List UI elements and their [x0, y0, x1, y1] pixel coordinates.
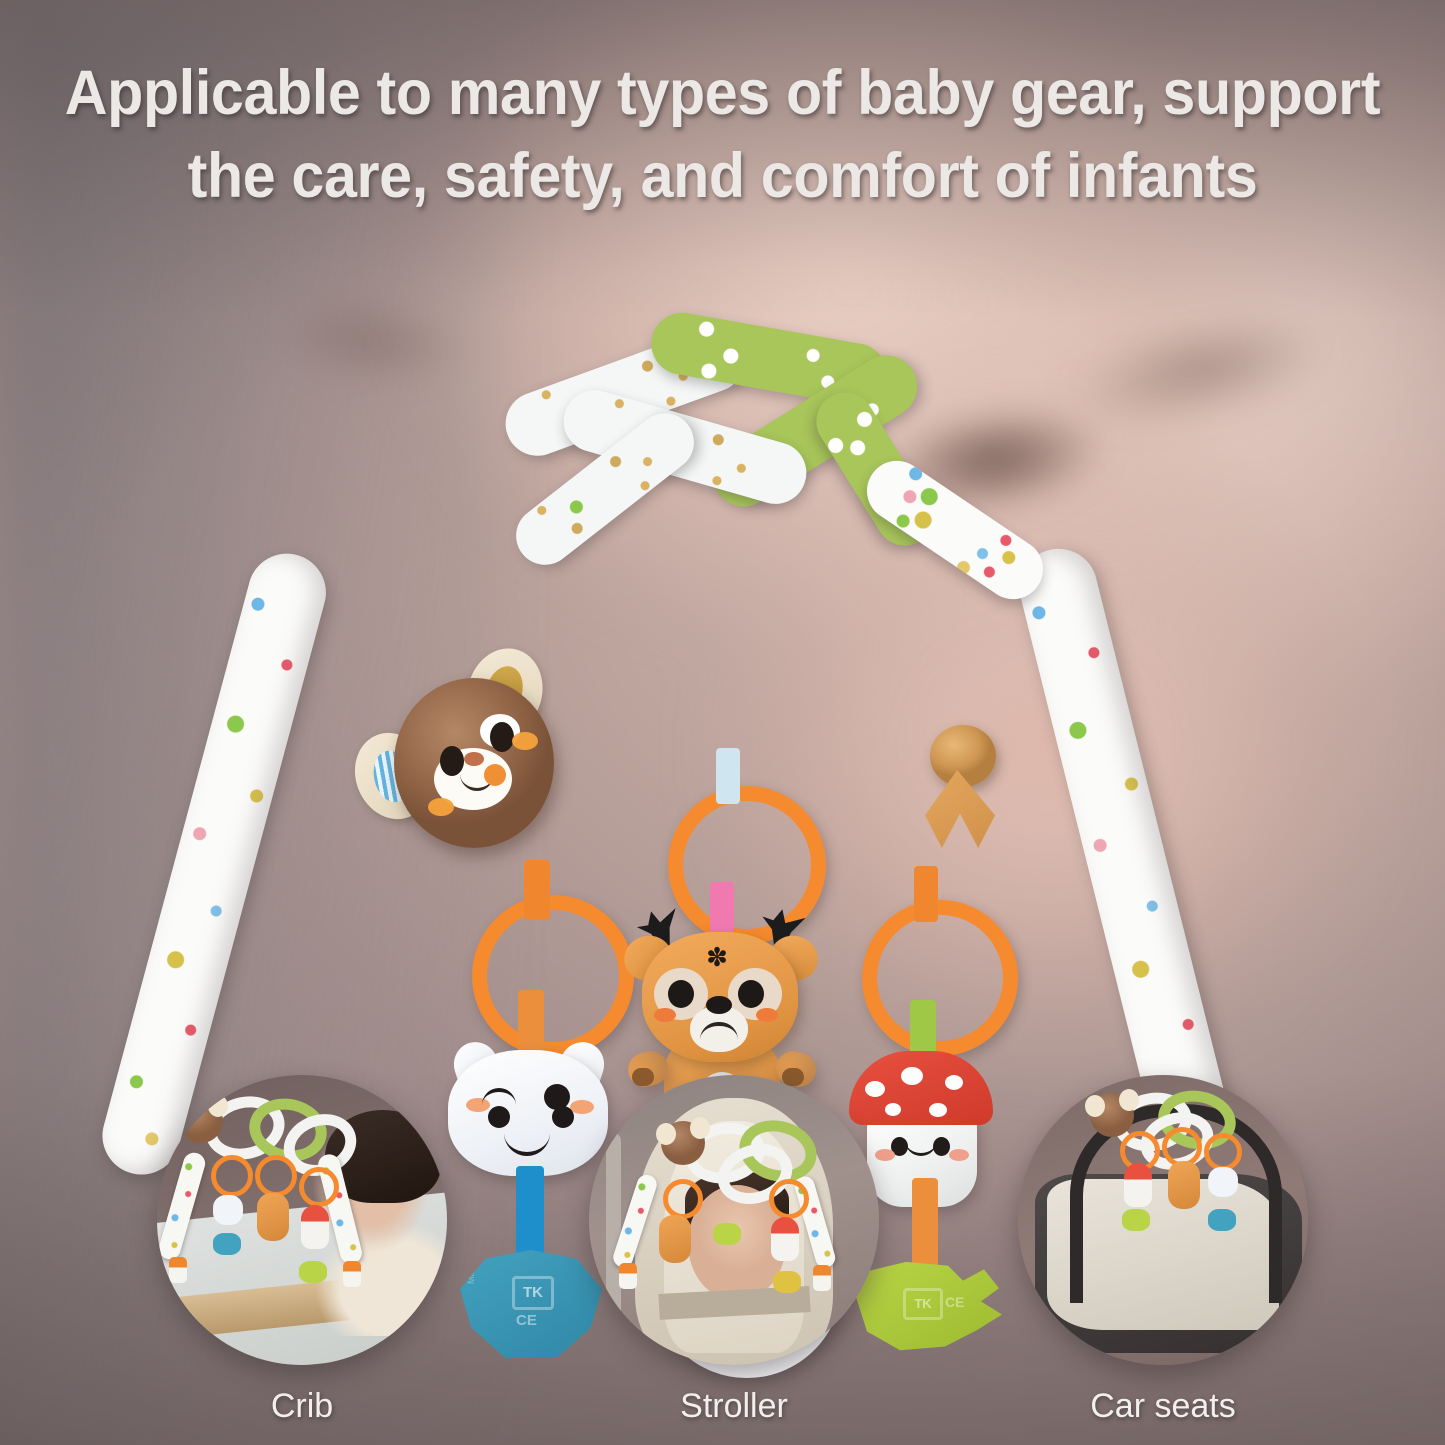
deer-blush-right — [756, 1008, 778, 1022]
mini-yellow-teether — [773, 1271, 801, 1293]
use-case-photo-car-seat — [1018, 1075, 1308, 1365]
bear-tongue — [484, 764, 506, 786]
mini-blue-teether — [1208, 1209, 1236, 1231]
mini-bear-head — [1090, 1093, 1134, 1137]
bear-plush-head — [372, 660, 572, 860]
mini-cat-plush — [1208, 1167, 1238, 1197]
bear-cheek-right — [512, 732, 538, 750]
crib-scene — [157, 1075, 447, 1365]
deer-blush-left — [654, 1008, 676, 1022]
use-case-row: Crib — [0, 1075, 1445, 1445]
use-case-photo-crib — [157, 1075, 447, 1365]
product-marketing-image: Applicable to many types of baby gear, s… — [0, 0, 1445, 1445]
mini-bear-head — [661, 1121, 705, 1165]
bear-cheek-left — [428, 798, 454, 816]
mini-deer-plush — [659, 1215, 691, 1263]
mini-mushroom-plush — [301, 1205, 329, 1249]
strap-center-top — [716, 748, 740, 804]
mini-ring-1 — [663, 1179, 703, 1219]
use-case-label-car-seats: Car seats — [1018, 1387, 1308, 1426]
deer-forehead-star-icon: ✽ — [704, 944, 730, 970]
mini-deer-plush — [257, 1193, 289, 1241]
hanging-ring-left — [472, 895, 634, 1057]
mini-deer-plush — [1168, 1161, 1200, 1209]
mini-green-teether-held — [713, 1223, 741, 1245]
use-case-photo-stroller — [589, 1075, 879, 1365]
mini-ring-2 — [255, 1155, 297, 1197]
use-case-label-stroller: Stroller — [589, 1387, 879, 1426]
hanging-ring-right — [862, 900, 1018, 1056]
bear-eye-right — [490, 722, 514, 752]
deer-eye-right — [738, 980, 764, 1008]
mini-endcap-right — [343, 1261, 361, 1287]
mini-mushroom-plush — [771, 1217, 799, 1261]
mini-ring-3 — [1204, 1133, 1242, 1171]
use-case-stroller[interactable]: Stroller — [589, 1075, 879, 1426]
deer-nose — [706, 996, 732, 1014]
mini-bear-head — [179, 1099, 223, 1143]
mini-endcap-left — [619, 1263, 637, 1289]
use-case-car-seats[interactable]: Car seats — [1018, 1075, 1308, 1426]
mini-green-teether — [299, 1261, 327, 1283]
mini-ring-3 — [299, 1167, 339, 1207]
headline-text: Applicable to many types of baby gear, s… — [43, 52, 1401, 218]
use-case-label-crib: Crib — [157, 1387, 447, 1426]
mini-cat-plush — [213, 1195, 243, 1225]
mini-ring-2 — [769, 1179, 809, 1219]
mini-endcap-left — [169, 1257, 187, 1283]
mini-blue-teether — [213, 1233, 241, 1255]
stroller-scene — [589, 1075, 879, 1365]
mini-ring-1 — [211, 1155, 253, 1197]
strap-right — [914, 866, 938, 922]
product-photo: Made in China TK CE ✽ — [0, 300, 1445, 1090]
stroller-frame-bar — [606, 1133, 621, 1319]
use-case-crib[interactable]: Crib — [157, 1075, 447, 1426]
bead-ribbon — [925, 770, 995, 848]
mini-green-teether — [1122, 1209, 1150, 1231]
mini-mushroom-plush — [1124, 1163, 1152, 1207]
bear-nose — [464, 752, 484, 766]
car-seat-scene — [1018, 1075, 1308, 1365]
strap-left — [524, 860, 550, 920]
deer-eye-left — [668, 980, 694, 1008]
mini-endcap-right — [813, 1265, 831, 1291]
